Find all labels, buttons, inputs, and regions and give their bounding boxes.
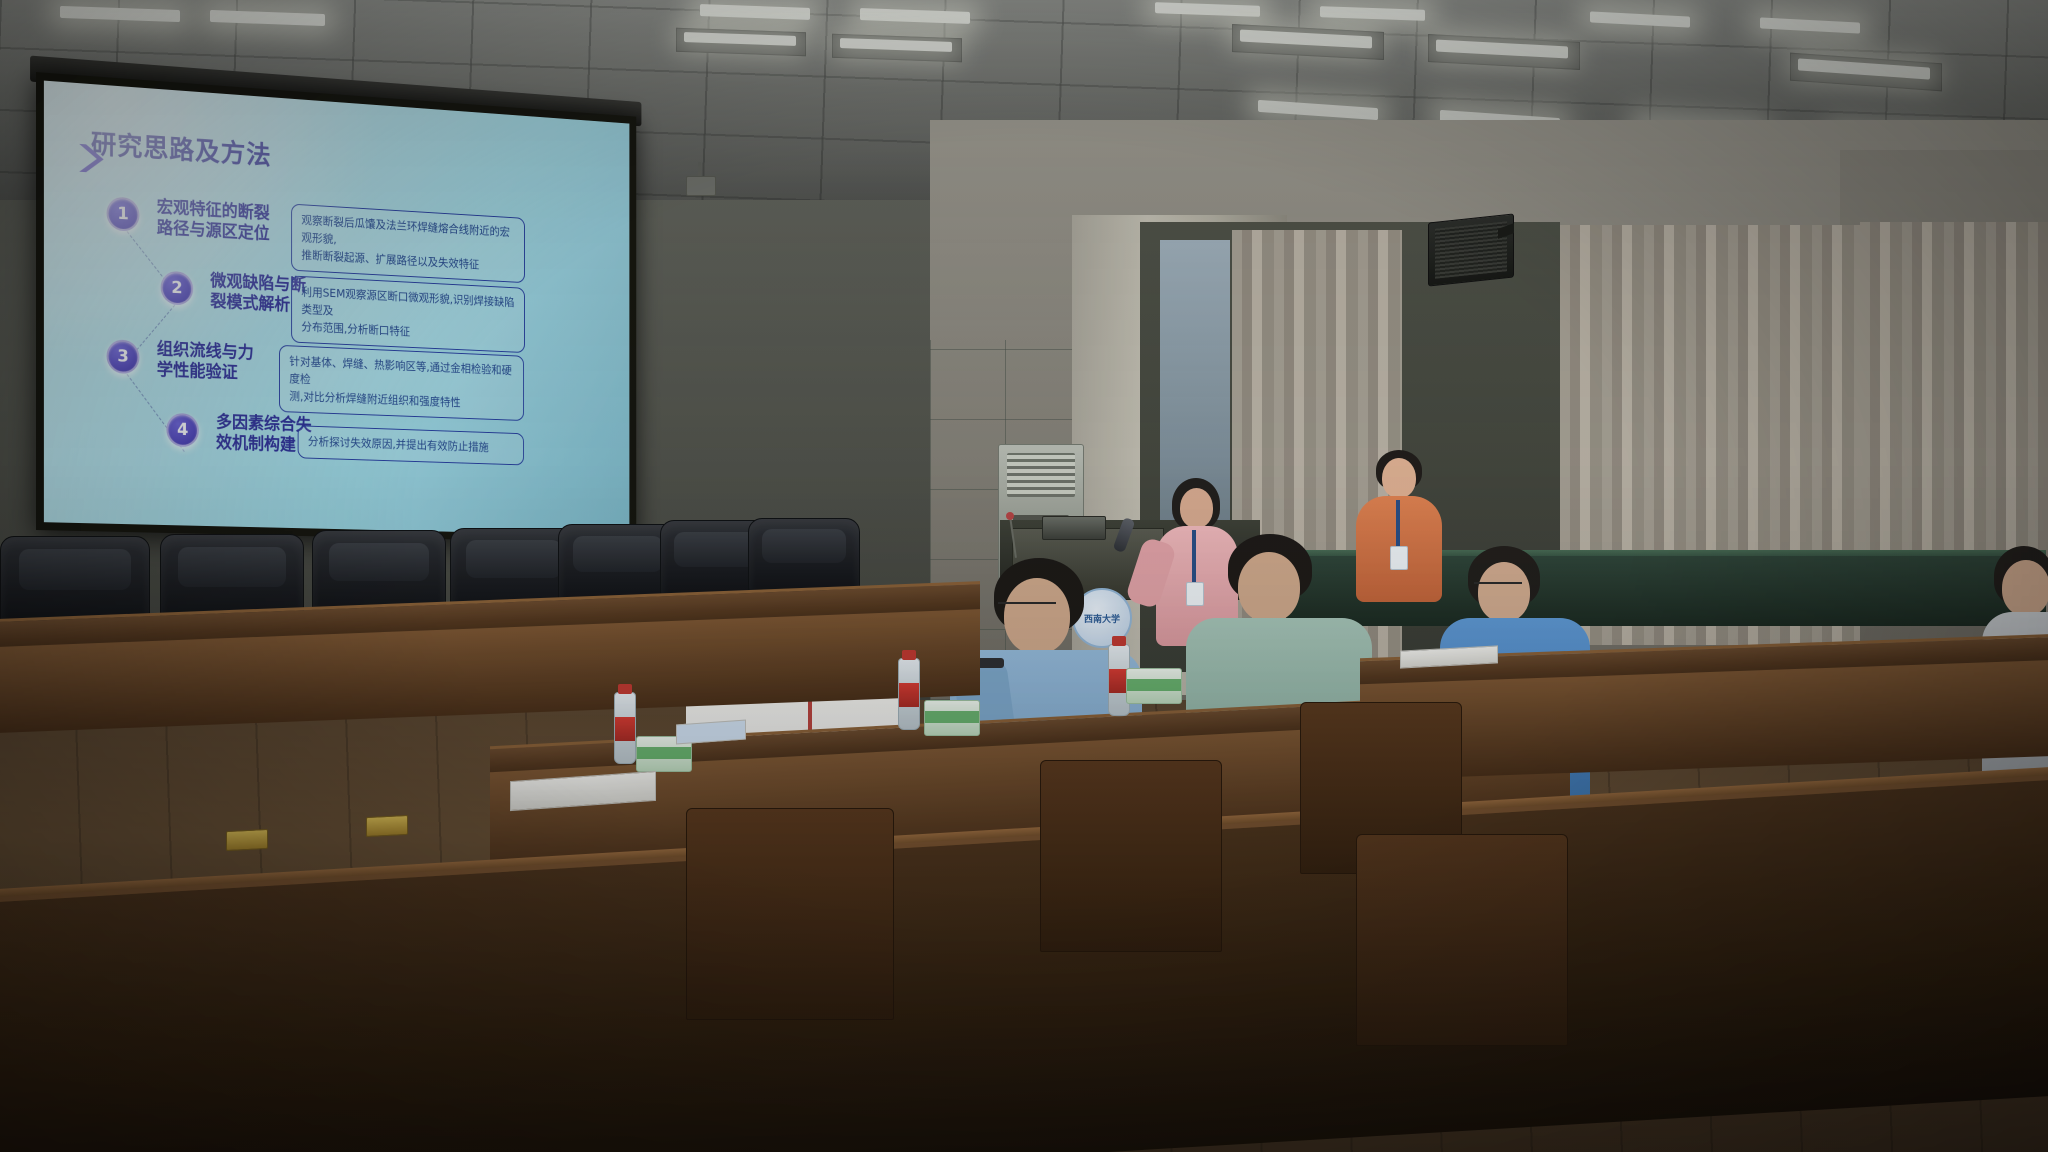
- projection-screen-border: 研究思路及方法 1 宏观特征的断裂 路径与源区定位: [36, 72, 636, 544]
- ceiling-projector: [686, 176, 716, 196]
- wristwatch-icon: [976, 658, 1004, 668]
- tissue-box: [1126, 668, 1182, 704]
- head: [1382, 458, 1416, 498]
- speaker-grill-icon: [1435, 221, 1507, 279]
- step-number-badge: 1: [107, 196, 140, 232]
- air-conditioner-vents: [1007, 453, 1075, 497]
- slide-title-row: 研究思路及方法: [77, 123, 271, 172]
- head: [1238, 552, 1300, 622]
- chair: [748, 518, 860, 594]
- bottle-cap: [618, 684, 632, 694]
- slide-title: 研究思路及方法: [91, 124, 272, 172]
- bottle-label: [615, 717, 635, 741]
- step-title-line: 学性能验证: [157, 360, 280, 385]
- step-description-line: 分析探讨失效原因,并提出有效防止措施: [308, 433, 514, 457]
- eyeglasses-icon: [1474, 582, 1522, 593]
- wall-speaker: [1428, 213, 1514, 286]
- desk-nameplate: [366, 815, 408, 837]
- bottle-label: [899, 683, 919, 707]
- lanyard: [1396, 500, 1400, 548]
- desk-nameplate: [226, 829, 268, 851]
- step-description-box: 分析探讨失效原因,并提出有效防止措施: [298, 425, 524, 465]
- conference-room-photo: 研究思路及方法 1 宏观特征的断裂 路径与源区定位: [0, 0, 2048, 1152]
- chair: [0, 536, 150, 626]
- chair: [686, 808, 894, 1020]
- step-title: 宏观特征的断裂 路径与源区定位: [157, 197, 280, 245]
- chair: [1040, 760, 1222, 952]
- water-bottle: [614, 692, 636, 764]
- slide-steps: 1 宏观特征的断裂 路径与源区定位 观察断裂后瓜馕及法兰环焊缝熔合线附近的宏观形…: [103, 180, 616, 212]
- bottle-cap: [902, 650, 916, 660]
- water-bottle: [898, 658, 920, 730]
- tissue-box: [924, 700, 980, 736]
- presentation-slide: 研究思路及方法 1 宏观特征的断裂 路径与源区定位: [44, 81, 629, 536]
- lanyard: [1192, 530, 1196, 584]
- step-number-badge: 4: [166, 413, 198, 448]
- step-number-badge: 3: [107, 339, 140, 374]
- head: [1004, 578, 1070, 654]
- chair: [1356, 834, 1568, 1046]
- step-description-box: 利用SEM观察源区断口微观形貌,识别焊接缺陷类型及 分布范围,分析断口特征: [291, 275, 525, 353]
- slide-step-1: 1 宏观特征的断裂 路径与源区定位 观察断裂后瓜馕及法兰环焊缝熔合线附近的宏观形…: [103, 180, 616, 212]
- microphone-icon: [1006, 512, 1014, 520]
- tissue-box-band: [1127, 679, 1181, 691]
- step-description-box: 观察断裂后瓜馕及法兰环焊缝熔合线附近的宏观形貌, 推断断裂起源、扩展路径以及失效…: [291, 204, 525, 284]
- eyeglasses-icon: [998, 602, 1056, 614]
- projection-screen: 研究思路及方法 1 宏观特征的断裂 路径与源区定位: [36, 72, 636, 544]
- head: [2002, 560, 2048, 616]
- bottle-cap: [1112, 636, 1126, 646]
- head: [1180, 488, 1213, 528]
- podium-laptop: [1042, 516, 1106, 540]
- id-badge: [1390, 546, 1408, 570]
- step-number-badge: 2: [161, 271, 194, 306]
- tissue-box-band: [925, 711, 979, 723]
- step-title: 组织流线与力 学性能验证: [157, 339, 280, 385]
- id-badge: [1186, 582, 1204, 606]
- tissue-box-band: [637, 747, 691, 759]
- step-description-box: 针对基体、焊缝、热影响区等,通过金相检验和硬度检 测,对比分析焊缝附近组织和强度…: [279, 345, 524, 422]
